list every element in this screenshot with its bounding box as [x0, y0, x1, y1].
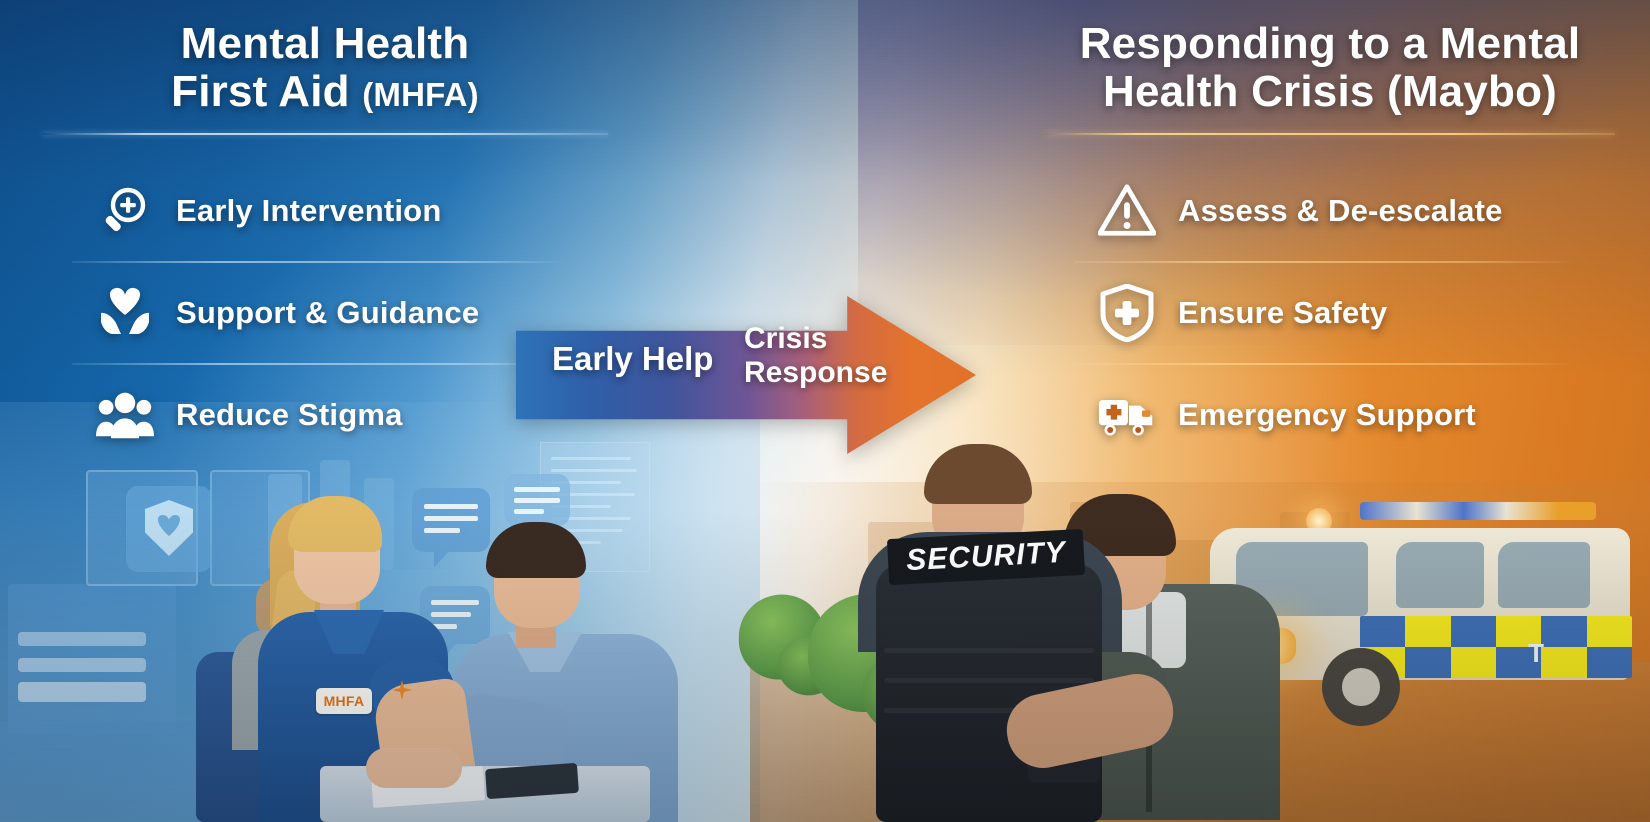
- left-title-line-1: Mental Health: [181, 19, 470, 68]
- transition-arrow: Early Help Crisis Response: [516, 296, 976, 454]
- left-list-item-label: Early Intervention: [176, 193, 441, 229]
- left-title-abbreviation: (MHFA): [362, 76, 479, 113]
- content-overlay: Mental Health First Aid (MHFA) Early Int…: [0, 0, 1650, 822]
- right-title-divider: [1045, 133, 1615, 135]
- right-list-item-emergency-support[interactable]: Emergency Support: [1010, 365, 1650, 465]
- right-title-line-1: Responding to a Mental: [1080, 19, 1581, 68]
- right-list-item-label: Assess & De-escalate: [1178, 193, 1503, 229]
- right-title-line-2: Health Crisis (Maybo): [1103, 67, 1557, 116]
- arrow-label-crisis-response: Crisis Response: [744, 322, 887, 389]
- right-list-item-assess-deescalate[interactable]: Assess & De-escalate: [1010, 161, 1650, 261]
- right-list-item-label: Emergency Support: [1178, 397, 1476, 433]
- arrow-label-crisis-line-2: Response: [744, 356, 887, 389]
- left-list-item-label: Reduce Stigma: [176, 397, 403, 433]
- right-panel-title: Responding to a Mental Health Crisis (Ma…: [1010, 20, 1650, 117]
- warning-triangle-icon: [1098, 182, 1156, 240]
- left-title-line-2: First Aid: [171, 67, 362, 116]
- left-list-item-label: Support & Guidance: [176, 295, 479, 331]
- left-panel-title: Mental Health First Aid (MHFA): [0, 20, 650, 117]
- left-title-divider: [42, 133, 608, 135]
- ambulance-icon: [1098, 386, 1156, 444]
- arrow-label-crisis-line-1: Crisis: [744, 322, 827, 355]
- right-list-item-label: Ensure Safety: [1178, 295, 1387, 331]
- magnifier-plus-icon: [96, 182, 154, 240]
- right-panel: Responding to a Mental Health Crisis (Ma…: [1010, 0, 1650, 465]
- arrow-label-early-help: Early Help: [552, 340, 713, 378]
- right-feature-list: Assess & De-escalate Ensure Safety: [1010, 161, 1650, 465]
- right-list-item-ensure-safety[interactable]: Ensure Safety: [1010, 263, 1650, 363]
- left-list-item-early-intervention[interactable]: Early Intervention: [0, 161, 650, 261]
- shield-cross-icon: [1098, 284, 1156, 342]
- arrow-labels: Early Help Crisis Response: [516, 296, 976, 454]
- people-group-icon: [96, 386, 154, 444]
- heart-in-hands-icon: [96, 284, 154, 342]
- infographic-canvas: MHFA T: [0, 0, 1650, 822]
